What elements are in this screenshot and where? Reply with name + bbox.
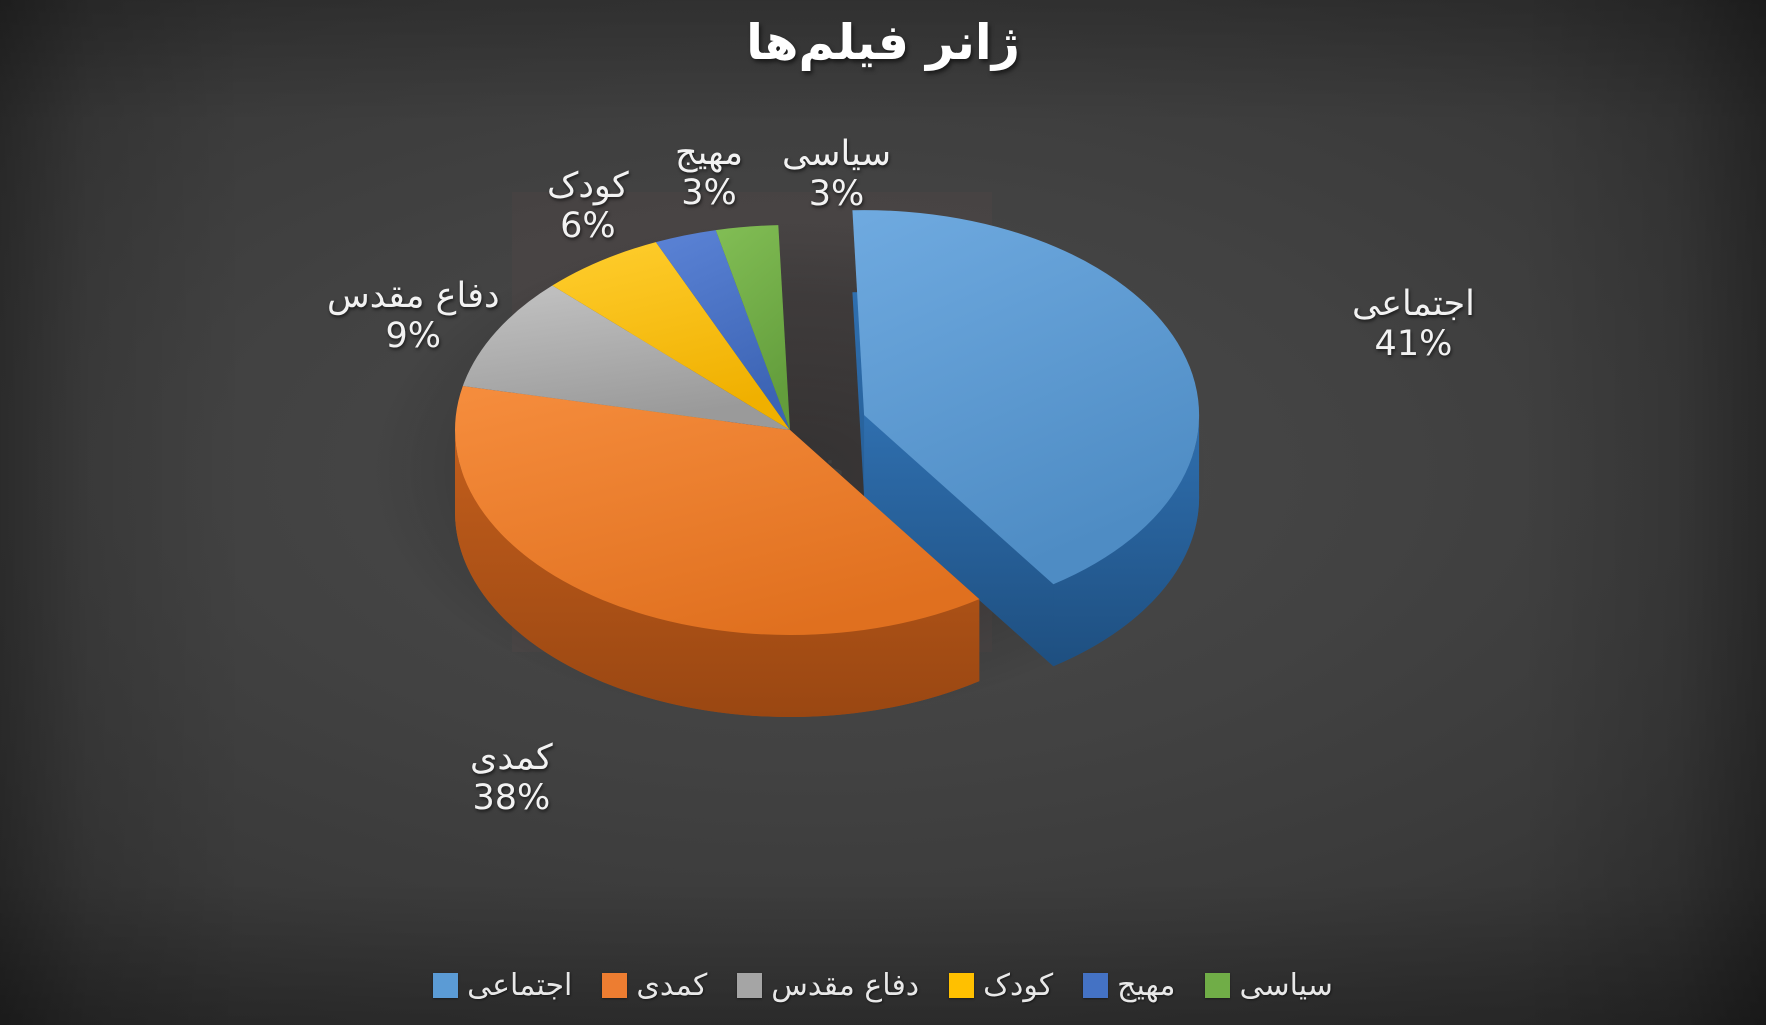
legend-color-swatch [1205, 973, 1230, 998]
chart-legend: اجتماعیکمدیدفاع مقدسکودکمهیجسیاسی [0, 968, 1766, 1003]
legend-label: اجتماعی [467, 968, 572, 1003]
legend-color-swatch [433, 973, 458, 998]
slice-label-value: 6% [547, 206, 629, 246]
legend-item[interactable]: سیاسی [1205, 968, 1332, 1003]
slice-label-value: 3% [675, 173, 743, 213]
legend-item[interactable]: کودک [949, 968, 1053, 1003]
legend-color-swatch [737, 973, 762, 998]
slice-label-name: مهیج [675, 133, 743, 173]
legend-label: کمدی [636, 968, 707, 1003]
slice-label-value: 41% [1352, 324, 1475, 364]
legend-label: سیاسی [1239, 968, 1332, 1003]
slice-label-komedi: کمدی 38% [470, 738, 553, 819]
legend-color-swatch [602, 973, 627, 998]
legend-color-swatch [949, 973, 974, 998]
chart-canvas: ژانر فیلم‌ها خبرگزاری Tasnim News Agency [0, 0, 1766, 1025]
slice-label-name: دفاع مقدس [327, 276, 500, 316]
legend-item[interactable]: اجتماعی [433, 968, 572, 1003]
legend-item[interactable]: مهیج [1083, 968, 1175, 1003]
slice-label-mahij: مهیج 3% [675, 133, 743, 214]
slice-label-value: 38% [470, 778, 553, 818]
slice-label-value: 3% [782, 174, 891, 214]
slice-label-name: سیاسی [782, 134, 891, 174]
slice-label-name: کودک [547, 166, 629, 206]
legend-label: دفاع مقدس [771, 968, 919, 1003]
legend-item[interactable]: دفاع مقدس [737, 968, 919, 1003]
slice-label-defa-moghaddas: دفاع مقدس 9% [327, 276, 500, 357]
slice-label-name: اجتماعی [1352, 284, 1475, 324]
legend-label: مهیج [1117, 968, 1175, 1003]
slice-label-koodak: کودک 6% [547, 166, 629, 247]
legend-item[interactable]: کمدی [602, 968, 707, 1003]
slice-label-siasi: سیاسی 3% [782, 134, 891, 215]
slice-label-ejtemaei: اجتماعی 41% [1352, 284, 1475, 365]
slice-label-name: کمدی [470, 738, 553, 778]
legend-label: کودک [983, 968, 1053, 1003]
legend-color-swatch [1083, 973, 1108, 998]
slice-label-value: 9% [327, 316, 500, 356]
